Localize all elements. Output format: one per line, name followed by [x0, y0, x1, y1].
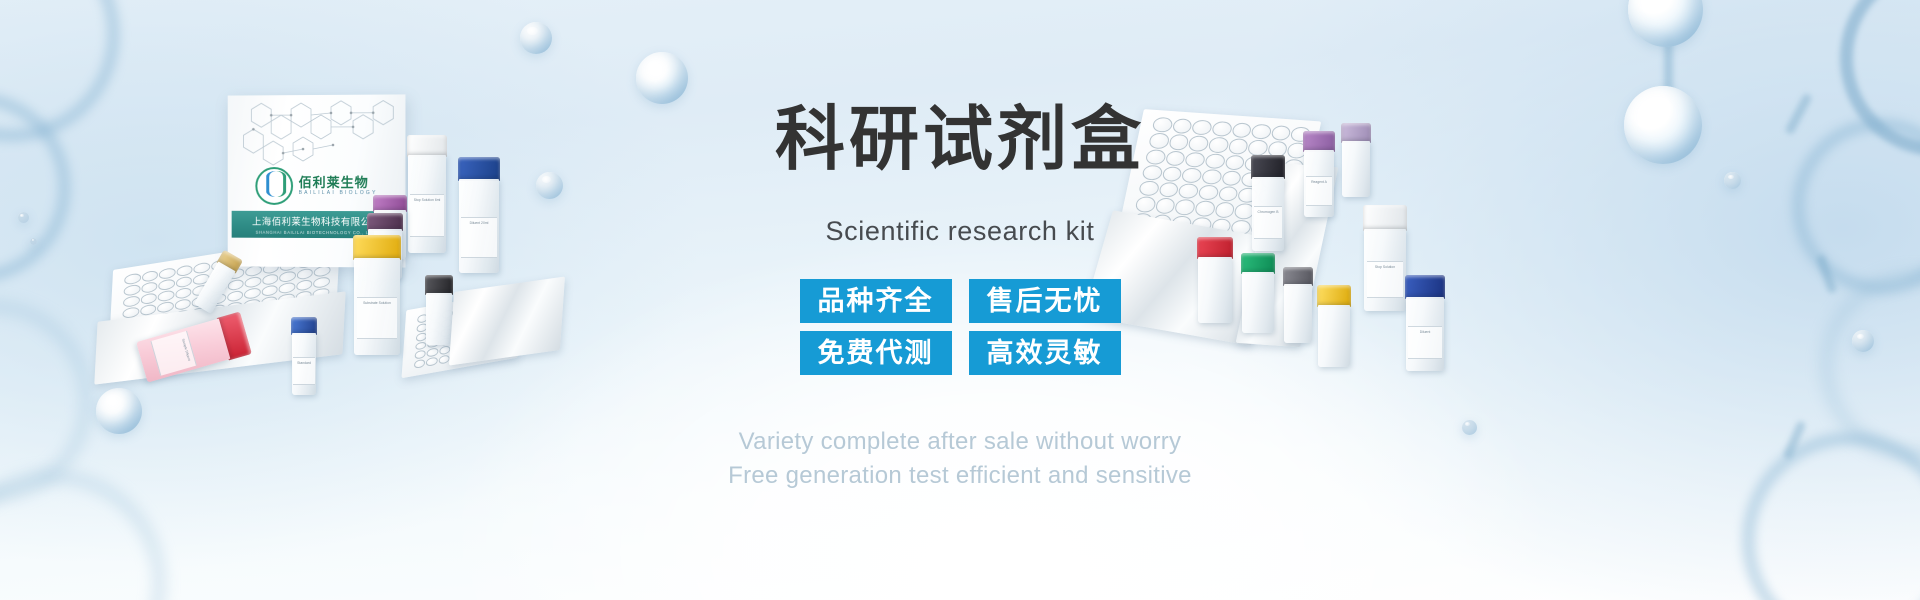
feature-badge-row: 品种齐全 售后无忧: [800, 279, 1121, 323]
tagline-line-1: Variety complete after sale without worr…: [0, 425, 1920, 459]
feature-badge-aftersale[interactable]: 售后无忧: [969, 279, 1121, 323]
feature-badge-list: 品种齐全 售后无忧 免费代测 高效灵敏: [0, 279, 1920, 375]
microplate-well: [159, 267, 176, 280]
promo-banner: 佰利莱生物 BAILILAI BIOLOGY 上海佰利莱生物科技有限公司 SHA…: [0, 0, 1920, 600]
page-subtitle: Scientific research kit: [0, 218, 1920, 245]
feature-badge-variety[interactable]: 品种齐全: [800, 279, 952, 323]
tagline-line-2: Free generation test efficient and sensi…: [0, 459, 1920, 493]
page-title: 科研试剂盒: [0, 104, 1920, 174]
feature-badge-row: 免费代测 高效灵敏: [800, 331, 1121, 375]
water-droplet-icon: [636, 52, 688, 104]
product-vial-navy-cap-bottle: Diluent 20ml: [458, 157, 500, 273]
microplate-well: [176, 264, 193, 277]
kit-brand-name-cn: 佰利莱生物: [299, 176, 378, 189]
vial-cap: [1241, 253, 1275, 274]
banner-tagline: Variety complete after sale without worr…: [0, 425, 1920, 493]
water-droplet-icon: [1724, 172, 1741, 189]
feature-badge-free-test[interactable]: 免费代测: [800, 331, 952, 375]
vial-label: Reagent A: [1306, 176, 1332, 206]
microplate-well: [194, 262, 211, 275]
water-droplet-icon: [1628, 0, 1703, 47]
water-droplet-icon: [520, 22, 552, 54]
kit-brand-name-en: BAILILAI BIOLOGY: [299, 191, 378, 196]
feature-badge-sensitive[interactable]: 高效灵敏: [969, 331, 1121, 375]
